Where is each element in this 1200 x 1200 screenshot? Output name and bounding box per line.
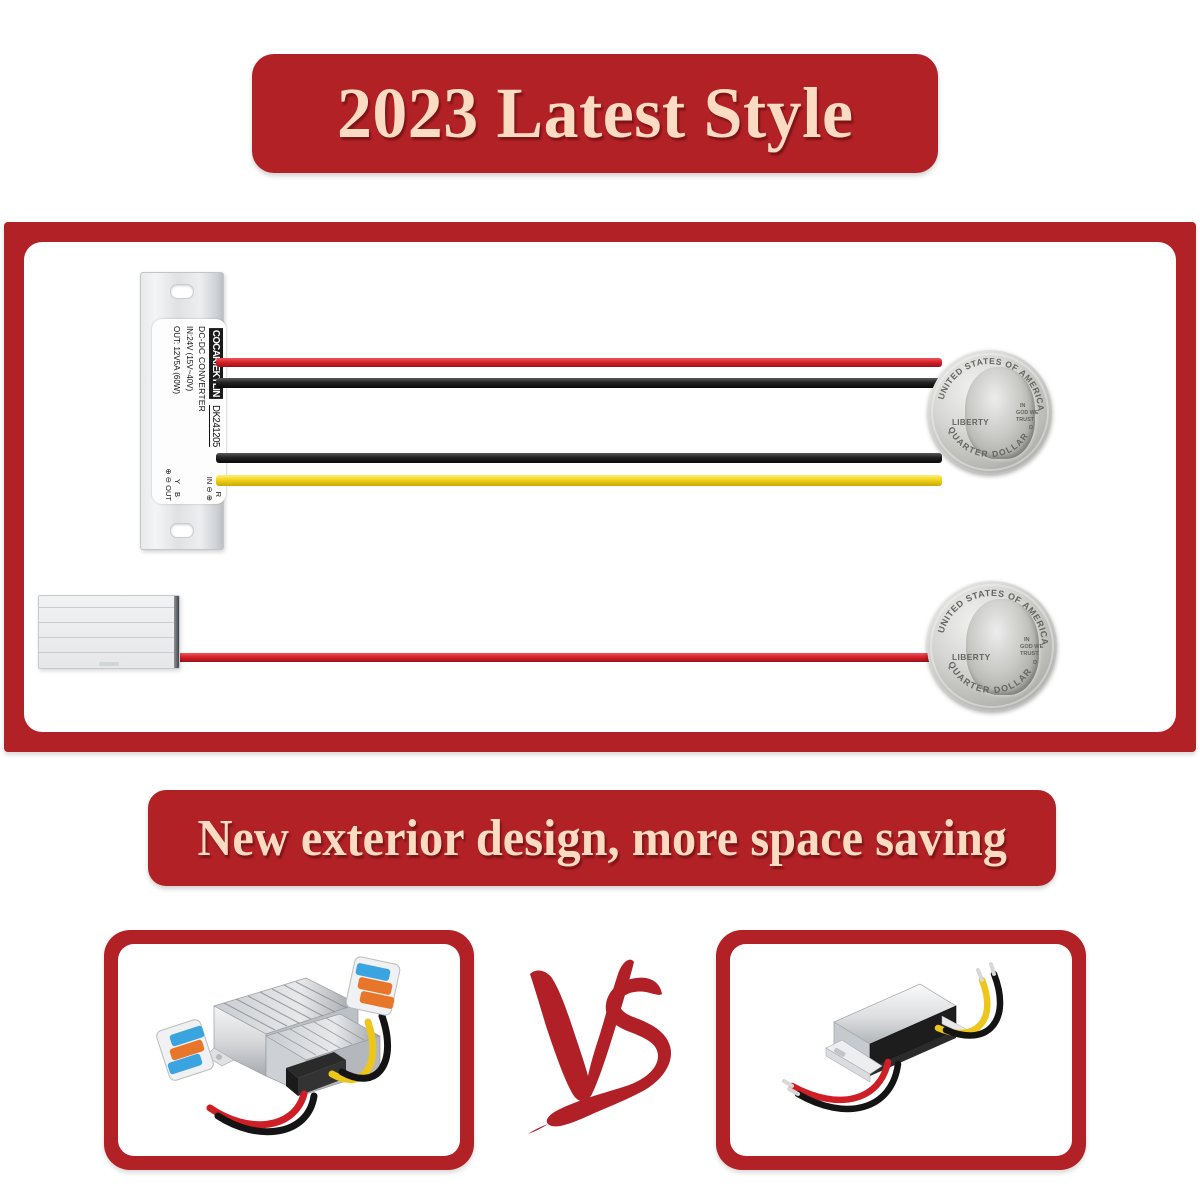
comparison-frame-new xyxy=(716,930,1086,1170)
svg-text:UNITED STATES OF AMERICA: UNITED STATES OF AMERICA xyxy=(936,356,1046,412)
svg-text:D: D xyxy=(1033,660,1037,666)
label-line-type: DC-DC CONVERTER xyxy=(197,326,207,412)
wire-output-negative xyxy=(216,453,942,463)
converter-notch xyxy=(99,662,119,666)
vs-brush-icon xyxy=(512,948,688,1148)
coin-legend-bottom: UNITED STATES OF AMERICA QUARTER DOLLAR … xyxy=(927,581,1057,711)
svg-text:UNITED STATES OF AMERICA: UNITED STATES OF AMERICA xyxy=(936,588,1050,646)
comparison-frame-old xyxy=(104,930,474,1170)
coin-legend-top: UNITED STATES OF AMERICA QUARTER DOLLAR … xyxy=(928,350,1052,474)
converter-side-view xyxy=(38,595,180,669)
old-converter-illustration xyxy=(118,944,460,1156)
svg-text:IN: IN xyxy=(1020,403,1025,409)
tagline-text: New exterior design, more space saving xyxy=(197,809,1006,868)
new-style-converter-photo xyxy=(730,944,1072,1156)
tagline-banner: New exterior design, more space saving xyxy=(148,790,1056,886)
lever-nut-connector-left xyxy=(155,1018,215,1082)
output-terminal-symbols: ⊕ ⊖ OUT xyxy=(164,468,173,501)
mounting-slot-top xyxy=(170,284,194,299)
svg-text:QUARTER DOLLAR: QUARTER DOLLAR xyxy=(946,660,1034,695)
main-product-panel: COCAR/EKYLIN DK241205 DC-DC CONVERTER IN… xyxy=(4,222,1196,752)
product-label: COCAR/EKYLIN DK241205 DC-DC CONVERTER IN… xyxy=(152,319,226,504)
svg-text:D: D xyxy=(1029,425,1033,431)
new-converter-illustration xyxy=(730,944,1072,1156)
us-quarter-bottom: UNITED STATES OF AMERICA QUARTER DOLLAR … xyxy=(927,581,1057,711)
main-panel-inner: COCAR/EKYLIN DK241205 DC-DC CONVERTER IN… xyxy=(24,242,1176,732)
title-text: 2023 Latest Style xyxy=(337,72,853,155)
output-terminal-letters: Y B xyxy=(173,479,182,500)
label-line-output: OUT: 12V5A (60W) xyxy=(172,326,181,394)
converter-top-view: COCAR/EKYLIN DK241205 DC-DC CONVERTER IN… xyxy=(140,272,224,550)
svg-text:TRUST: TRUST xyxy=(1020,651,1039,657)
input-terminal-symbols: IN ⊖ ⊕ xyxy=(205,477,214,501)
svg-text:TRUST: TRUST xyxy=(1016,417,1035,423)
old-style-converter-photo xyxy=(118,944,460,1156)
mounting-slot-bottom xyxy=(170,523,194,538)
converter-end-cap xyxy=(174,596,179,668)
svg-text:QUARTER DOLLAR: QUARTER DOLLAR xyxy=(946,425,1030,459)
lever-nut-connector-right xyxy=(345,956,401,1016)
us-quarter-top: UNITED STATES OF AMERICA QUARTER DOLLAR … xyxy=(928,350,1052,474)
wire-side-view-red xyxy=(169,653,949,662)
label-line-input: IN:24V (15V~40V) xyxy=(185,326,194,391)
svg-text:GOD WE: GOD WE xyxy=(1016,410,1039,416)
svg-text:LIBERTY: LIBERTY xyxy=(952,652,991,662)
title-banner: 2023 Latest Style xyxy=(252,54,938,173)
svg-text:LIBERTY: LIBERTY xyxy=(952,418,989,427)
wire-output-positive xyxy=(216,475,942,486)
vs-graphic xyxy=(512,948,688,1148)
model-number: DK241205 xyxy=(209,405,221,447)
wire-input-positive xyxy=(216,358,942,367)
wire-input-negative xyxy=(216,378,942,388)
svg-text:GOD WE: GOD WE xyxy=(1020,644,1044,650)
svg-text:IN: IN xyxy=(1024,637,1030,643)
